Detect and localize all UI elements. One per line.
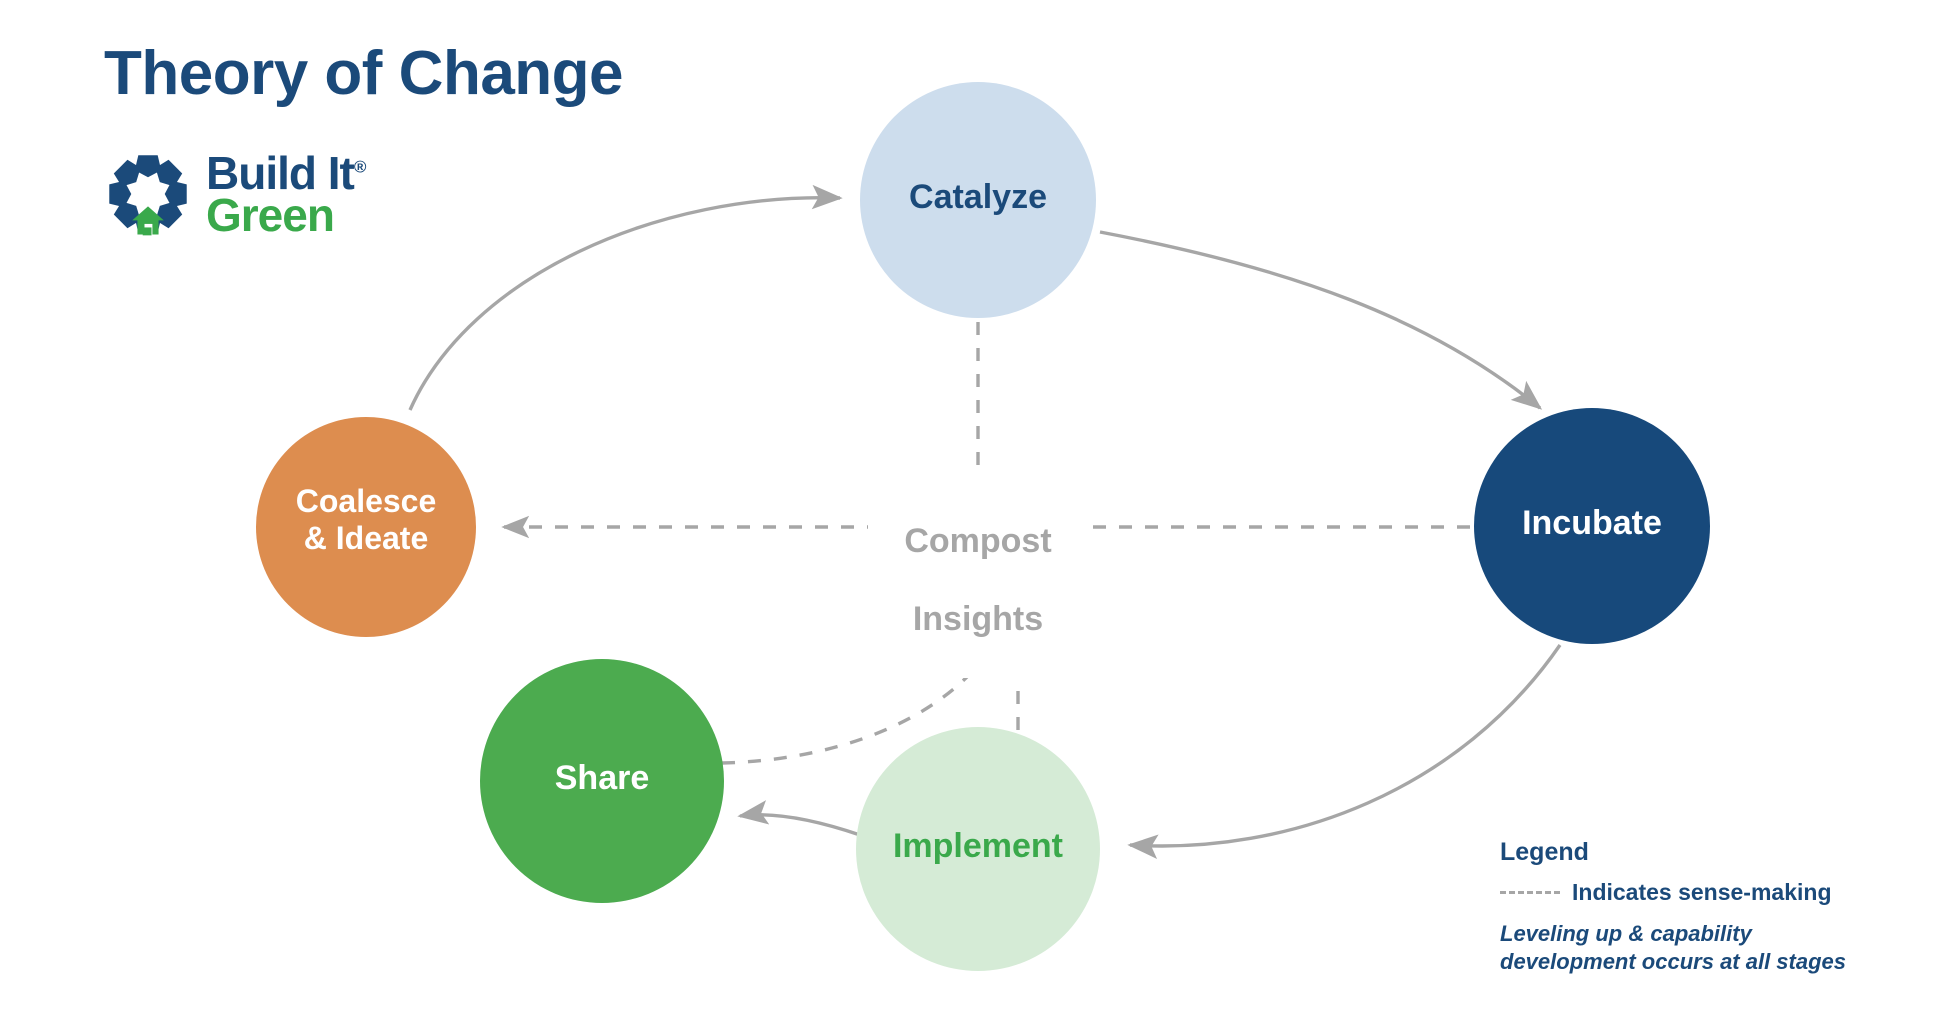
legend-dashed-label: Indicates sense-making — [1572, 879, 1832, 906]
connector-catalyze-to-incubate — [1100, 232, 1540, 408]
node-incubate[interactable] — [1474, 408, 1710, 644]
node-share[interactable] — [480, 659, 724, 903]
connector-incubate-to-implement — [1130, 645, 1560, 846]
connector-coalesce-to-catalyze — [410, 198, 840, 410]
node-catalyze[interactable] — [860, 82, 1096, 318]
legend-title: Legend — [1500, 838, 1900, 867]
node-implement[interactable] — [856, 727, 1100, 971]
diagram-nodes — [256, 82, 1710, 971]
legend-row-sense-making: Indicates sense-making — [1500, 879, 1900, 906]
node-coalesce-ideate[interactable] — [256, 417, 476, 637]
slide-canvas: Theory of Change — [0, 0, 1936, 1012]
connector-implement-to-share — [740, 815, 860, 835]
dashed-line-icon — [1500, 891, 1560, 894]
legend-note: Leveling up & capability development occ… — [1500, 920, 1890, 976]
legend: Legend Indicates sense-making Leveling u… — [1500, 838, 1900, 976]
